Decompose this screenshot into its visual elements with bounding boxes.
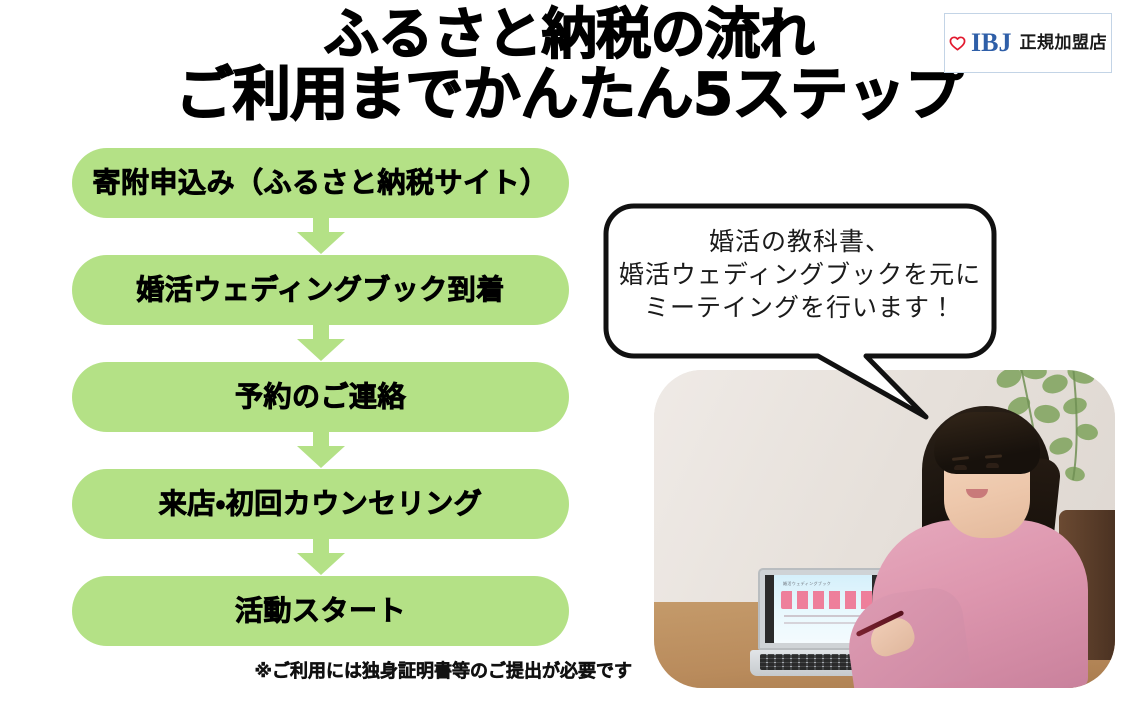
flow-steps-list: 寄附申込み（ふるさと納税サイト） 婚活ウェディングブック到着 予約のご連絡 来店… <box>72 148 569 646</box>
speech-bubble: 婚活の教科書、 婚活ウェディングブックを元に ミーテイングを行います！ <box>604 204 996 359</box>
flow-step-4: 来店・初回カウンセリング <box>72 469 569 539</box>
laptop-slide-title: 婚活ウェディングブック <box>783 581 831 587</box>
arrow-down-icon <box>293 218 349 255</box>
flow-step-label: 寄附申込み（ふるさと納税サイト） <box>78 168 562 199</box>
photo-woman <box>850 388 1110 688</box>
woman-eye-right <box>986 463 999 468</box>
arrow-down-icon <box>293 325 349 362</box>
ibj-wordmark: IBJ <box>971 30 1011 56</box>
flow-step-label: 婚活ウェディングブック到着 <box>122 275 519 306</box>
flow-footnote: ※ご利用には独身証明書等のご提出が必要です <box>72 661 632 683</box>
flow-step-label: 来店・初回カウンセリング <box>145 489 497 520</box>
speech-bubble-line-2: 婚活ウェディングブックを元に <box>604 259 996 292</box>
speech-bubble-line-3: ミーテイングを行います！ <box>604 292 996 325</box>
ibj-certified-member-badge: IBJ 正規加盟店 <box>944 13 1112 73</box>
laptop-bezel-left <box>765 575 774 643</box>
flow-step-1: 寄附申込み（ふるさと納税サイト） <box>72 148 569 218</box>
speech-bubble-line-1: 婚活の教科書、 <box>604 226 996 259</box>
woman-eye-left <box>954 465 967 470</box>
flow-step-2: 婚活ウェディングブック到着 <box>72 255 569 325</box>
speech-bubble-text: 婚活の教科書、 婚活ウェディングブックを元に ミーテイングを行います！ <box>604 226 996 325</box>
flow-step-label: 予約のご連絡 <box>221 382 420 413</box>
flow-arrow-2 <box>72 325 569 362</box>
flow-step-5: 活動スタート <box>72 576 569 646</box>
flow-step-label: 活動スタート <box>221 596 420 627</box>
flow-arrow-3 <box>72 432 569 469</box>
flow-step-3: 予約のご連絡 <box>72 362 569 432</box>
flow-arrow-1 <box>72 218 569 255</box>
arrow-down-icon <box>293 432 349 469</box>
page-title-line-2: ご利用までかんたん5ステップ <box>0 65 1138 124</box>
heart-outline-icon <box>949 35 966 51</box>
flow-arrow-4 <box>72 539 569 576</box>
arrow-down-icon <box>293 539 349 576</box>
ibj-member-label: 正規加盟店 <box>1019 35 1107 52</box>
